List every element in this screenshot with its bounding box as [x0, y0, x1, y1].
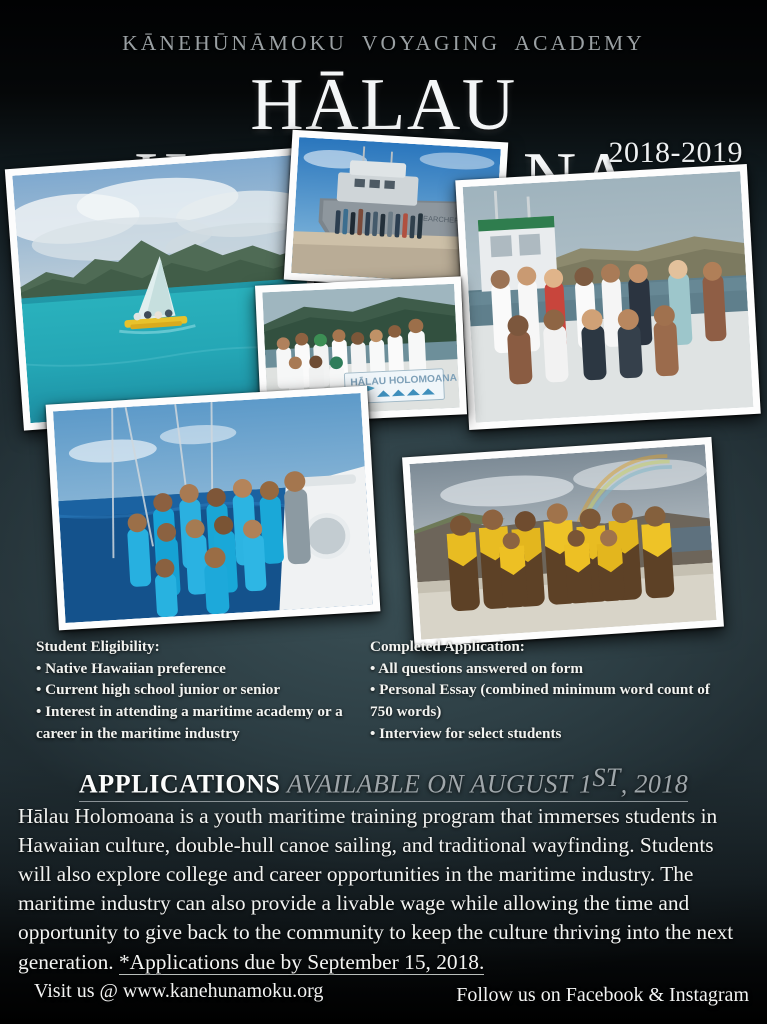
eligibility-item: • Native Hawaiian preference [36, 658, 356, 680]
website-link[interactable]: Visit us @ www.kanehunamoku.org [34, 980, 323, 1003]
availability-pre: AVAILABLE ON AUGUST 1 [281, 769, 593, 798]
eligibility-item: • Current high school junior or senior [36, 679, 356, 701]
poster-canvas: KĀNEHŪNĀMOKU VOYAGING ACADEMY HĀLAU HOLO… [0, 0, 767, 1024]
eligibility-item: • Interest in attending a maritime acade… [36, 701, 356, 744]
photo-collage: SEARCHER [0, 0, 767, 660]
photo-blue-kihei-group [46, 386, 381, 631]
photo-rightgroup-boat [455, 164, 761, 430]
eligibility-column: Student Eligibility: • Native Hawaiian p… [36, 636, 356, 745]
program-description: Hālau Holomoana is a youth maritime trai… [18, 802, 750, 977]
description-text: Hālau Holomoana is a youth maritime trai… [18, 804, 733, 974]
social-media-note: Follow us on Facebook & Instagram [456, 984, 749, 1007]
availability-post: , 2018 [621, 769, 688, 798]
application-column: Completed Application: • All questions a… [370, 636, 720, 745]
availability-ordinal: ST [592, 763, 620, 792]
application-heading: Completed Application: [370, 636, 720, 658]
photo-kapa-rainbow-group [402, 437, 724, 647]
application-item: • All questions answered on form [370, 658, 720, 680]
poster-footer: Visit us @ www.kanehunamoku.org Follow u… [0, 975, 767, 1024]
deadline-note: *Applications due by September 15, 2018. [119, 950, 484, 975]
applications-label: APPLICATIONS [79, 769, 281, 798]
application-item: • Personal Essay (combined minimum word … [370, 679, 720, 722]
eligibility-heading: Student Eligibility: [36, 636, 356, 658]
application-item: • Interview for select students [370, 723, 720, 745]
applications-availability-band: APPLICATIONS AVAILABLE ON AUGUST 1ST, 20… [0, 763, 767, 802]
